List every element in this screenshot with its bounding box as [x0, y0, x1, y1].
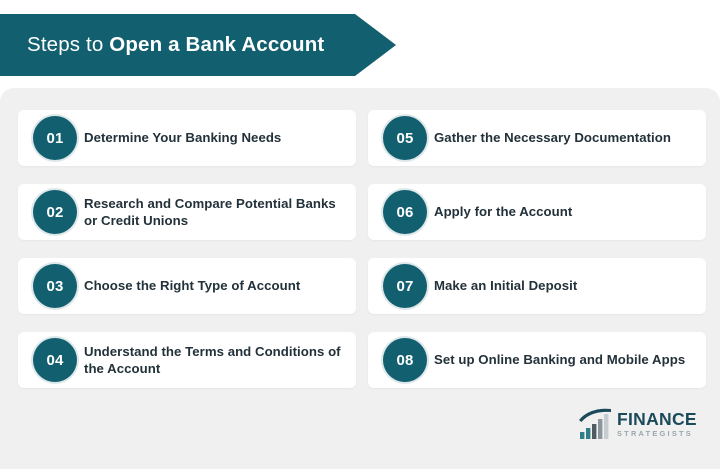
step-label: Understand the Terms and Conditions of t… — [84, 343, 356, 378]
page-title-bold: Open a Bank Account — [109, 33, 324, 56]
step-number-badge: 07 — [383, 264, 427, 308]
step-card-03: 03 Choose the Right Type of Account — [18, 258, 356, 314]
step-label: Determine Your Banking Needs — [84, 129, 356, 146]
step-number-badge: 01 — [33, 116, 77, 160]
badge-slot: 03 — [18, 258, 84, 314]
logo-wordmark: FINANCE STRATEGISTS — [617, 411, 697, 438]
step-label: Make an Initial Deposit — [434, 277, 706, 294]
steps-grid: 01 Determine Your Banking Needs 05 Gathe… — [18, 110, 706, 388]
step-label: Choose the Right Type of Account — [84, 277, 356, 294]
badge-slot: 05 — [368, 110, 434, 166]
step-card-08: 08 Set up Online Banking and Mobile Apps — [368, 332, 706, 388]
bar-chart-swoosh-icon — [578, 408, 612, 440]
step-label: Research and Compare Potential Banks or … — [84, 195, 356, 230]
brand-logo: FINANCE STRATEGISTS — [578, 404, 710, 444]
step-number-badge: 03 — [33, 264, 77, 308]
badge-slot: 02 — [18, 184, 84, 240]
logo-tagline: STRATEGISTS — [617, 430, 697, 437]
step-number-badge: 02 — [33, 190, 77, 234]
badge-slot: 01 — [18, 110, 84, 166]
step-card-02: 02 Research and Compare Potential Banks … — [18, 184, 356, 240]
badge-slot: 07 — [368, 258, 434, 314]
step-card-05: 05 Gather the Necessary Documentation — [368, 110, 706, 166]
header-banner: Steps to Open a Bank Account — [0, 14, 396, 76]
step-card-04: 04 Understand the Terms and Conditions o… — [18, 332, 356, 388]
step-card-01: 01 Determine Your Banking Needs — [18, 110, 356, 166]
logo-name: FINANCE — [617, 411, 697, 429]
step-label: Gather the Necessary Documentation — [434, 129, 706, 146]
step-label: Set up Online Banking and Mobile Apps — [434, 351, 706, 368]
infographic-page: Steps to Open a Bank Account 01 Determin… — [0, 0, 720, 469]
page-title-light: Steps to — [27, 33, 109, 56]
step-card-06: 06 Apply for the Account — [368, 184, 706, 240]
step-card-07: 07 Make an Initial Deposit — [368, 258, 706, 314]
badge-slot: 08 — [368, 332, 434, 388]
step-number-badge: 08 — [383, 338, 427, 382]
step-label: Apply for the Account — [434, 203, 706, 220]
step-number-badge: 06 — [383, 190, 427, 234]
step-number-badge: 05 — [383, 116, 427, 160]
step-number-badge: 04 — [33, 338, 77, 382]
page-title: Steps to Open a Bank Account — [0, 35, 324, 56]
badge-slot: 06 — [368, 184, 434, 240]
badge-slot: 04 — [18, 332, 84, 388]
